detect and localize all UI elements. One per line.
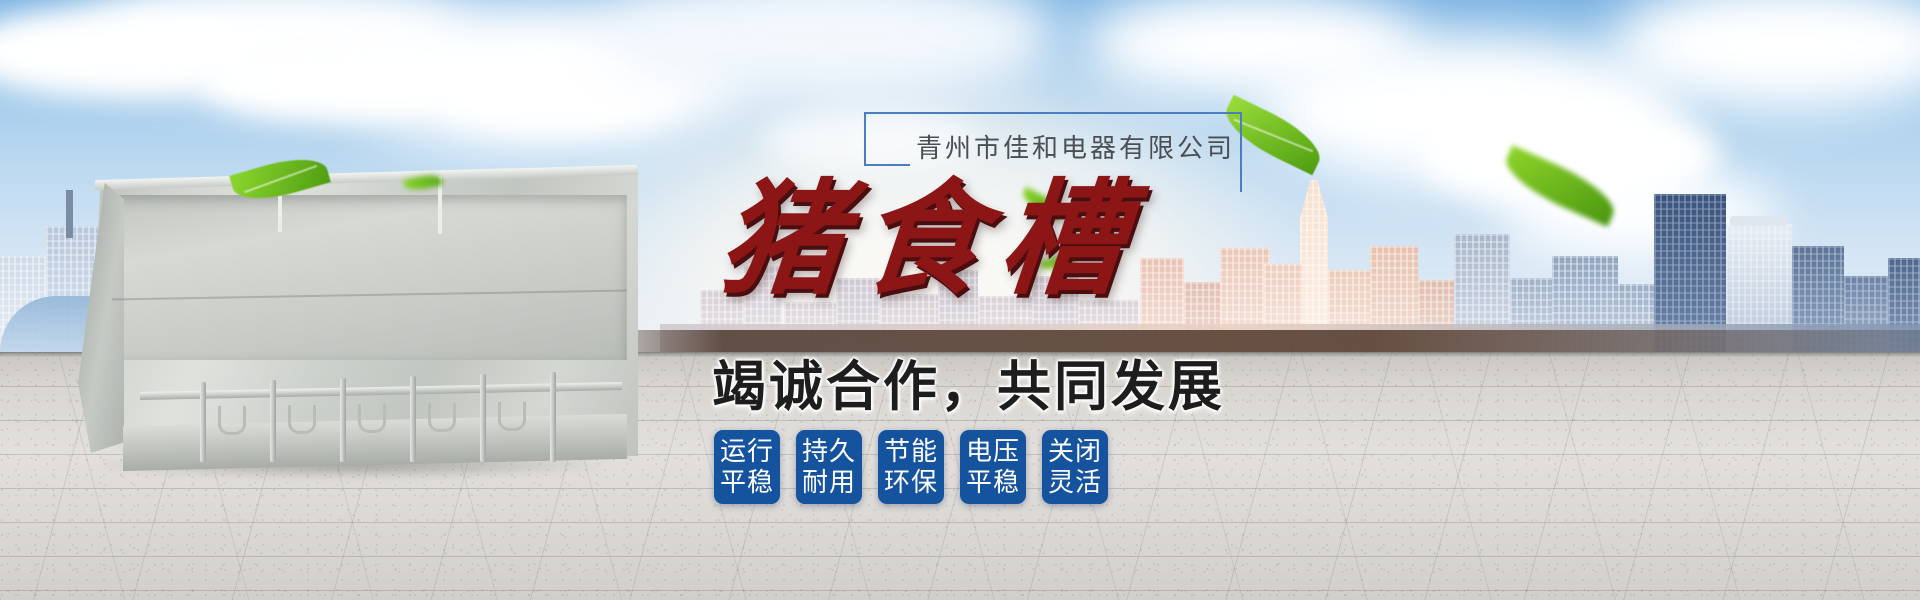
feature-badge[interactable]: 电压 平稳 — [960, 430, 1026, 504]
trough-u-bracket — [358, 404, 386, 433]
badge-line-2: 平稳 — [720, 467, 774, 498]
leaf-vein — [244, 165, 317, 193]
trough-divider — [410, 376, 416, 462]
badge-line-2: 平稳 — [966, 467, 1020, 498]
page-title: 猪食槽 — [714, 178, 1285, 308]
trough-u-bracket — [428, 403, 456, 432]
trough-u-bracket — [218, 406, 246, 435]
product-banner: 青州市佳和电器有限公司 猪食槽 竭诚合作，共同发展 运行 平稳 持久 耐用 节能… — [0, 0, 1920, 600]
company-name: 青州市佳和电器有限公司 — [916, 128, 1256, 165]
badge-line-1: 关闭 — [1048, 436, 1102, 467]
badge-line-1: 电压 — [966, 436, 1020, 467]
building-tower-cap — [1730, 216, 1788, 226]
pig-feeding-trough-product — [78, 168, 638, 468]
feature-badge[interactable]: 运行 平稳 — [714, 430, 780, 504]
trough-divider — [550, 372, 556, 462]
feature-badge[interactable]: 关闭 灵活 — [1042, 430, 1108, 504]
trough-divider — [340, 378, 346, 462]
building-spire — [66, 190, 73, 238]
trough-left-panel — [78, 183, 124, 453]
badge-line-2: 灵活 — [1048, 467, 1102, 498]
trough-u-bracket — [498, 402, 526, 431]
feature-badge-list: 运行 平稳 持久 耐用 节能 环保 电压 平稳 关闭 灵活 — [714, 430, 1108, 504]
trough-inner-wall — [106, 195, 627, 360]
feature-badge[interactable]: 持久 耐用 — [796, 430, 862, 504]
badge-line-2: 耐用 — [802, 467, 856, 498]
trough-divider — [270, 380, 276, 462]
badge-line-2: 环保 — [884, 467, 938, 498]
banner-text-block: 青州市佳和电器有限公司 猪食槽 竭诚合作，共同发展 运行 平稳 持久 耐用 节能… — [700, 100, 1400, 540]
badge-line-1: 运行 — [720, 436, 774, 467]
feature-badge[interactable]: 节能 环保 — [878, 430, 944, 504]
trough-divider — [200, 382, 206, 462]
page-subtitle: 竭诚合作，共同发展 — [712, 342, 1312, 421]
badge-line-1: 持久 — [802, 436, 856, 467]
trough-u-bracket — [288, 405, 316, 434]
badge-line-1: 节能 — [884, 436, 938, 467]
trough-divider — [480, 374, 486, 462]
